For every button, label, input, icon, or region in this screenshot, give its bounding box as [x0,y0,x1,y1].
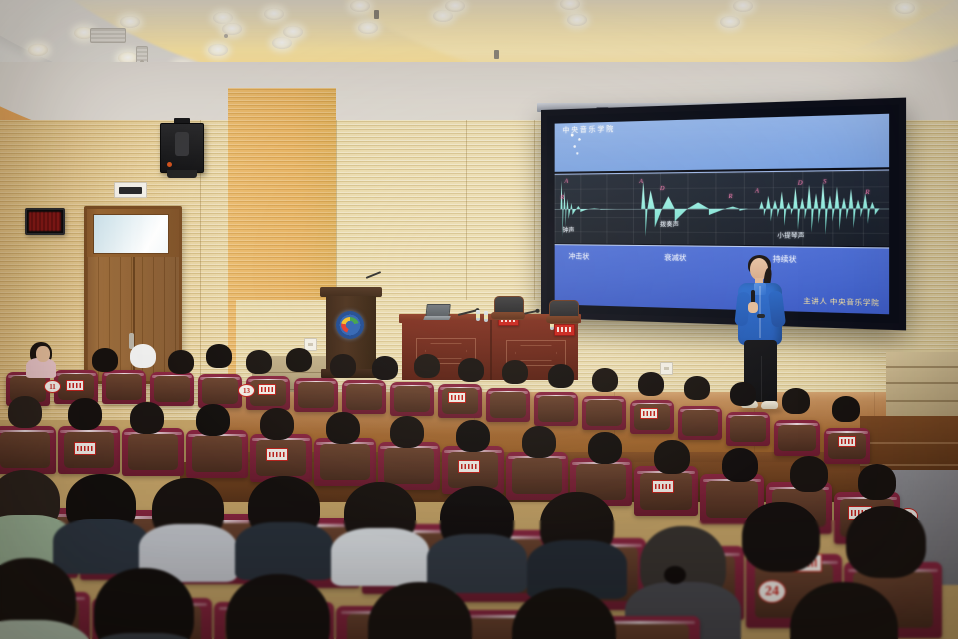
audience-member [66,474,136,536]
audience-member [206,344,232,368]
slide-logo-text: 中 央 音 乐 学 院 [562,126,592,169]
audience-member [248,476,320,540]
slide-waveform-panel: A R A D R A D S R 钟声 拨奏声 小提琴声 [555,169,889,246]
waveform-caption-2: 拨奏声 [660,219,679,228]
downlight-icon [208,44,228,56]
audience-member [94,568,194,639]
slide-header-band: 中 央 音 乐 学 院 [555,114,889,172]
red-led-display [25,208,65,235]
seat[interactable] [582,396,626,430]
row-tag [458,460,480,473]
seat[interactable] [534,392,578,426]
audience-member [782,388,810,414]
audience-member [588,432,622,464]
audience-member [722,448,758,482]
seat[interactable] [390,382,434,416]
audience-member [152,478,224,542]
seat-number: 13 [238,384,255,397]
seat[interactable] [102,370,146,404]
ceiling-speaker-icon [374,10,379,19]
laptop[interactable] [424,304,450,322]
seat-number: 11 [44,380,61,393]
water-bottle [484,311,488,322]
hair-bun [664,566,686,584]
wristwatch [757,314,765,318]
audience-member [512,588,616,639]
seat[interactable] [774,420,820,456]
seat-number: 24 [758,580,786,603]
audience-member [344,482,416,546]
row-tag [838,436,856,447]
seat[interactable] [678,406,722,440]
audience-member [456,420,490,452]
ceiling-speaker-icon [494,50,499,59]
audience-member [846,506,926,578]
downlight-icon [120,16,140,28]
audience-member [8,396,42,428]
audience-member [440,486,514,552]
audience-member [286,348,312,372]
row-tag [640,408,658,419]
audience-member [330,354,356,378]
audience-member [742,502,820,572]
water-bottle [476,310,480,321]
audience-member [0,558,76,639]
seat[interactable] [726,412,770,446]
seat[interactable] [294,378,338,412]
audience-member [260,408,294,440]
seat[interactable] [150,372,194,406]
audience-member [790,456,828,492]
speaker-mount [167,170,197,178]
audience-member [832,396,860,422]
audience-member [414,354,440,378]
audience-member [246,350,272,374]
row-tag [652,480,674,493]
audience-member [522,426,556,458]
door-window [93,214,169,254]
row-tag [74,442,96,455]
audience-member [548,364,574,388]
audience-member [0,470,60,532]
panel-chair[interactable] [546,300,580,334]
audience-member [502,360,528,384]
audience-member [92,348,118,372]
wall-notice-sign [114,182,147,198]
slide-signature: 主讲人 中央音乐学院 [803,294,879,307]
seat[interactable] [486,388,530,422]
footer-caption-2: 衰减状 [664,252,686,263]
audience-member [168,350,194,374]
waveform-caption-3: 小提琴声 [777,230,804,240]
downlight-icon [720,16,740,28]
audience-member [684,376,710,400]
wall-speaker-icon [160,123,204,173]
audience-member [368,582,472,639]
projection-screen[interactable]: 中 央 音 乐 学 院 A R [541,98,906,331]
downlight-icon [733,0,753,12]
audience-area: 11 13 [0,330,958,639]
footer-caption-1: 冲击状 [568,251,589,261]
audience-member [654,440,690,474]
audience-member [458,358,484,382]
audience-member [372,356,398,380]
row-tag [258,384,276,395]
seat[interactable] [342,380,386,414]
audience-member [36,346,50,362]
seat[interactable] [122,428,184,476]
audience-member [130,402,164,434]
waveform-caption-1: 钟声 [562,225,574,234]
downlight-icon [445,0,465,12]
audience-member [638,372,664,396]
audience-member [130,344,156,368]
audience-member [68,398,102,430]
downlight-icon [264,8,284,20]
audience-member [226,574,330,639]
audience-member [390,416,424,448]
downlight-icon [350,0,370,12]
seat[interactable] [0,426,56,474]
audience-member [790,582,898,639]
audience-member [858,464,896,500]
ceiling-vent [90,28,126,43]
lecture-hall-photo: 中 央 音 乐 学 院 A R [0,0,958,639]
downlight-icon [283,26,303,38]
audience-member [640,526,726,604]
downlight-icon [28,44,48,56]
slide-footer-band: 冲击状 衰减状 持续状 主讲人 中央音乐学院 [555,244,889,314]
downlight-icon [358,22,378,34]
downlight-icon [433,10,453,22]
audience-member [592,368,618,392]
audience-member [540,492,614,558]
audience-member [730,382,756,406]
downlight-icon [567,14,587,26]
sprinkler-icon [224,34,228,38]
downlight-icon [272,37,292,49]
seat[interactable] [314,438,376,486]
audience-member [326,412,360,444]
panel-chair[interactable] [491,296,525,330]
seat[interactable] [186,430,248,478]
seat[interactable] [198,374,242,408]
downlight-icon [895,2,915,14]
audience-member [196,404,230,436]
row-tag [66,380,84,391]
row-tag [448,392,466,403]
row-tag [266,448,288,461]
